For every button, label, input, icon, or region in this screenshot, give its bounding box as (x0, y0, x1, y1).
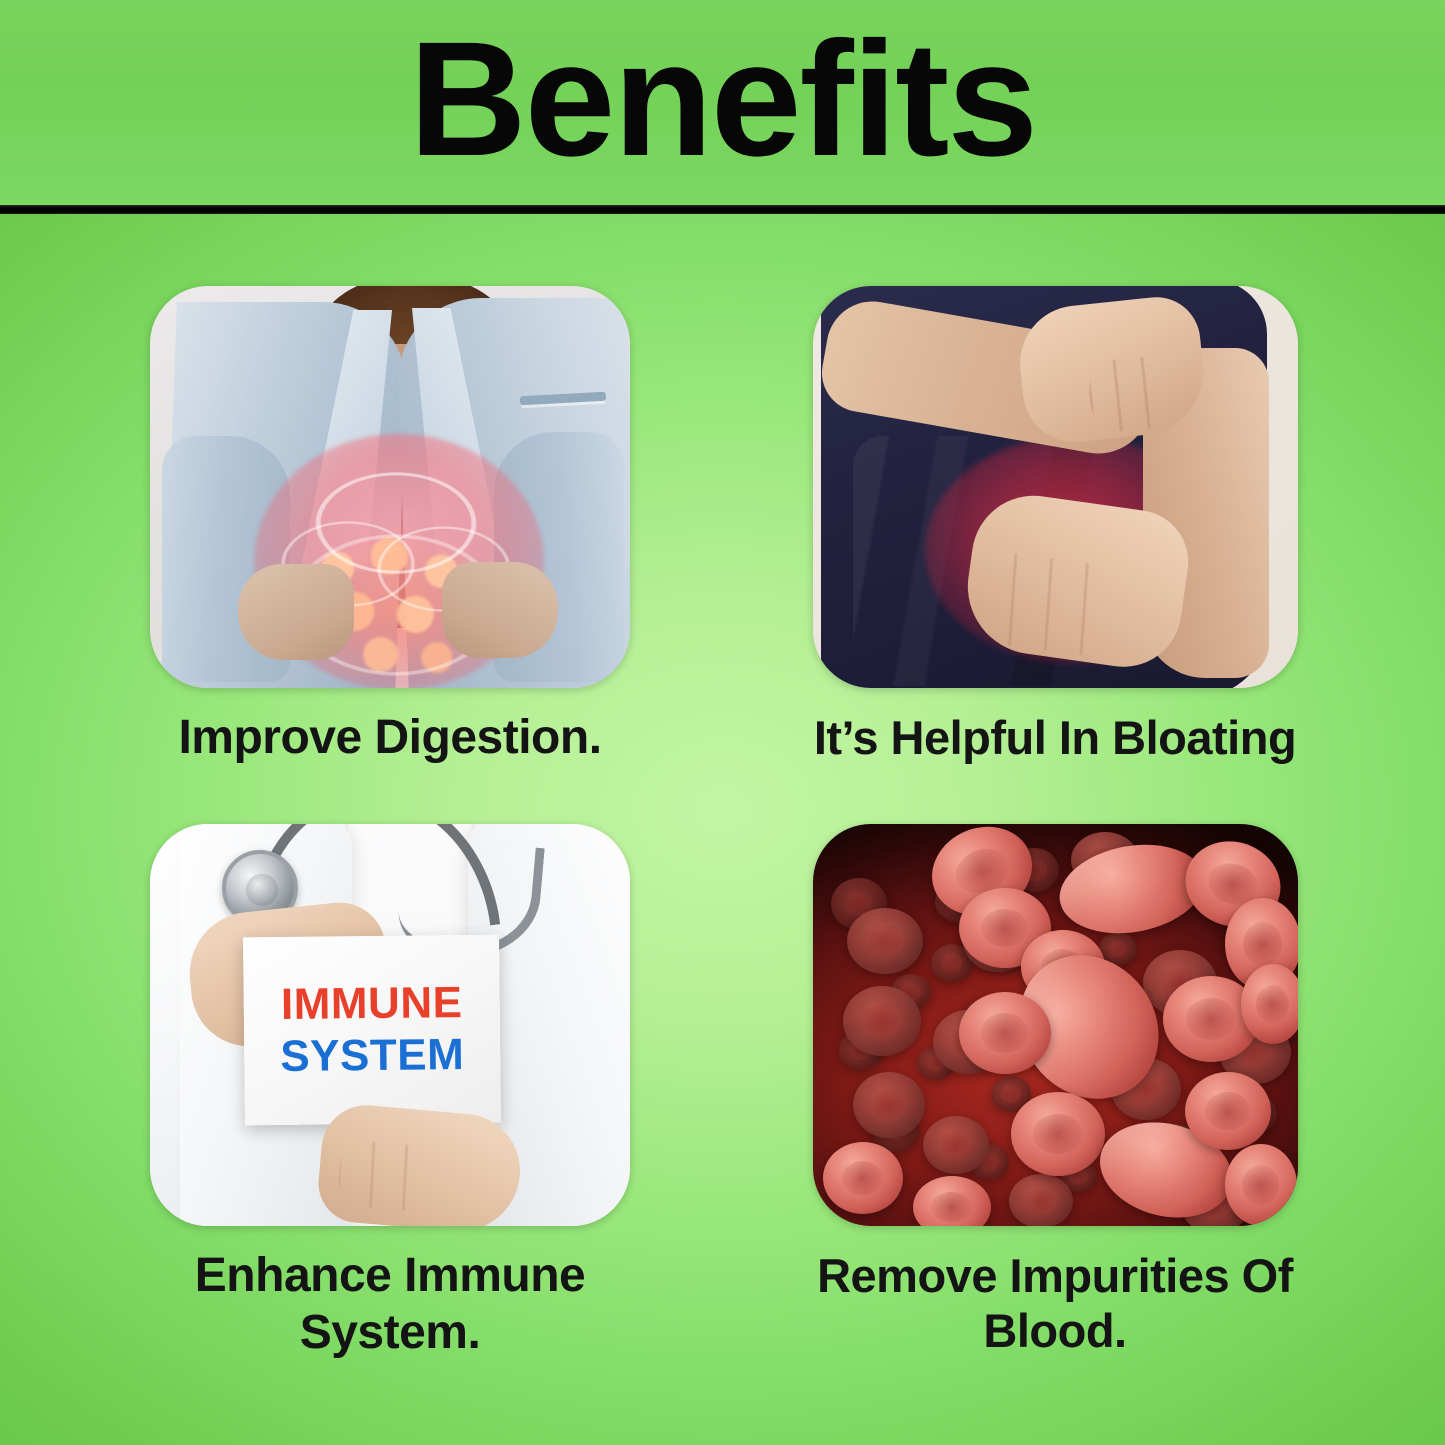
caption-line-2: Blood. (725, 1303, 1385, 1358)
blood-cell (1011, 1092, 1105, 1176)
hand-upper (1014, 293, 1209, 447)
caption-line-1: Remove Impurities Of (725, 1248, 1385, 1303)
benefits-infographic: Benefits Improve Dige (0, 0, 1445, 1445)
benefit-card-remove-impurities-of-blood[interactable]: Remove Impurities Of Blood. (725, 824, 1385, 1394)
header-divider (0, 205, 1445, 214)
hand-left (238, 564, 354, 660)
benefit-card-improve-digestion[interactable]: Improve Digestion. (60, 286, 720, 786)
caption-line-1: Enhance Immune (60, 1248, 720, 1305)
benefit-caption: Remove Impurities Of Blood. (725, 1248, 1385, 1359)
blood-cell (823, 1142, 903, 1214)
blood-cell (1225, 1144, 1297, 1226)
benefits-grid: Improve Digestion. It’s Helpful In Bloat… (0, 214, 1445, 1445)
benefit-card-helpful-in-bloating[interactable]: It’s Helpful In Bloating (725, 286, 1385, 786)
blood-cell (847, 908, 923, 974)
blood-cell (913, 1176, 991, 1226)
blood-cell (959, 992, 1051, 1074)
benefit-caption: Enhance Immune System. (60, 1248, 720, 1361)
benefit-card-enhance-immune-system[interactable]: IMMUNE SYSTEM Enhance Immune System. (60, 824, 720, 1394)
blood-cell (923, 1116, 989, 1174)
header-banner: Benefits (0, 0, 1445, 207)
hand-right (442, 562, 558, 658)
sign-line-immune: IMMUNE (281, 981, 463, 1027)
blood-cell (853, 1072, 925, 1138)
sign-line-system: SYSTEM (280, 1033, 464, 1079)
benefit-caption: Improve Digestion. (60, 710, 720, 767)
digestion-image (150, 286, 630, 688)
blood-cell (1009, 1174, 1073, 1226)
immune-system-image: IMMUNE SYSTEM (150, 824, 630, 1226)
blood-cells-image (813, 824, 1298, 1226)
blood-cell (1185, 1072, 1271, 1150)
immune-system-sign: IMMUNE SYSTEM (243, 935, 501, 1126)
caption-line-2: System. (60, 1305, 720, 1362)
benefit-caption: It’s Helpful In Bloating (725, 710, 1385, 765)
page-title: Benefits (409, 22, 1036, 177)
bloating-image (813, 286, 1298, 688)
blood-cell (843, 986, 921, 1056)
